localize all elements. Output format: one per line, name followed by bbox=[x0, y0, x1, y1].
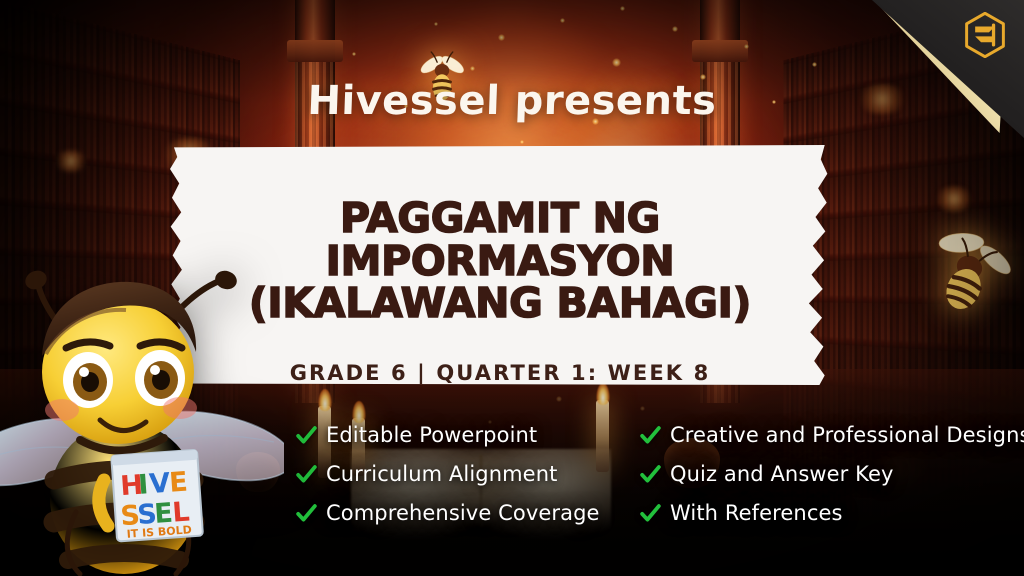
check-icon bbox=[296, 464, 317, 485]
feature-column-right: Creative and Professional Designs Quiz a… bbox=[640, 420, 1022, 528]
bee-mascot-icon: H I V E S S E L IT IS BOLD bbox=[0, 244, 284, 576]
flying-bee-icon bbox=[920, 232, 1012, 318]
feature-list: Editable Powerpoint Curriculum Alignment… bbox=[296, 420, 1022, 528]
list-item: Editable Powerpoint bbox=[296, 420, 606, 450]
check-icon bbox=[640, 503, 661, 524]
list-item: With References bbox=[640, 498, 1022, 528]
check-icon bbox=[296, 425, 317, 446]
check-icon bbox=[296, 503, 317, 524]
check-icon bbox=[640, 464, 661, 485]
shelf-light-bloom bbox=[54, 150, 88, 172]
kicker-text: Hivessel presents bbox=[0, 78, 1024, 124]
feature-label: Quiz and Answer Key bbox=[670, 462, 894, 486]
presentation-cover-slide: Hivessel presents PAGGAMIT NG IMPORMASYO… bbox=[0, 0, 1024, 576]
feature-label: Comprehensive Coverage bbox=[326, 501, 600, 525]
feature-label: Curriculum Alignment bbox=[326, 462, 557, 486]
check-icon bbox=[640, 425, 661, 446]
feature-label: Editable Powerpoint bbox=[326, 423, 537, 447]
feature-column-left: Editable Powerpoint Curriculum Alignment… bbox=[296, 420, 606, 528]
title-line-1: PAGGAMIT NG bbox=[170, 197, 830, 240]
feature-label: With References bbox=[670, 501, 843, 525]
svg-text:E: E bbox=[168, 466, 189, 498]
list-item: Quiz and Answer Key bbox=[640, 459, 1022, 489]
list-item: Curriculum Alignment bbox=[296, 459, 606, 489]
list-item: Creative and Professional Designs bbox=[640, 420, 1022, 450]
shelf-light-bloom bbox=[934, 186, 974, 212]
list-item: Comprehensive Coverage bbox=[296, 498, 606, 528]
feature-label: Creative and Professional Designs bbox=[670, 423, 1024, 447]
hexagon-monogram-logo-icon[interactable] bbox=[964, 12, 1006, 58]
